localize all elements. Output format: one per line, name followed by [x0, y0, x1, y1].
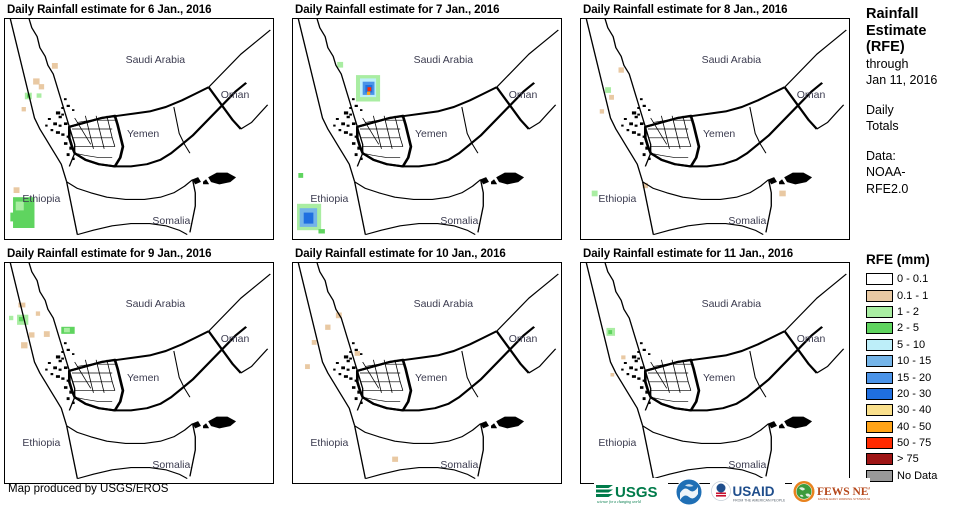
oman-yemen-border [209, 331, 241, 373]
highland-relief-speckle [637, 377, 640, 379]
agency-logo-strip: USGS science for a changing world USAID … [594, 477, 870, 507]
legend-label: 0 - 0.1 [897, 273, 928, 285]
highland-relief-speckle [637, 358, 640, 360]
rainfall-cell [610, 373, 614, 377]
highland-relief-speckle [72, 402, 75, 404]
rainfall-cell [355, 351, 360, 356]
highland-relief-speckle [61, 358, 64, 360]
highland-relief-speckle [64, 386, 67, 389]
highland-relief-speckle [640, 142, 643, 145]
legend-swatch [866, 273, 893, 285]
small-island-2 [779, 180, 784, 184]
highland-relief-speckle [357, 391, 360, 394]
small-island-2 [491, 424, 496, 428]
highland-relief-speckle [67, 380, 70, 382]
oman-coast-south [241, 105, 268, 129]
highland-relief-speckle [53, 122, 57, 125]
rainfall-cell [337, 62, 343, 68]
highland-relief-speckle [341, 366, 345, 369]
panel-title: Daily Rainfall estimate for 7 Jan., 2016 [292, 2, 562, 18]
highland-relief-speckle [61, 351, 64, 353]
rainfall-cell [367, 92, 370, 95]
highland-relief-speckle [355, 397, 358, 400]
highland-relief-speckle [336, 362, 339, 364]
map-panel: Daily Rainfall estimate for 9 Jan., 2016… [4, 246, 274, 484]
ethiopia-somalia-border [67, 426, 78, 479]
rainfall-cell [9, 316, 13, 320]
rainfall-cell [19, 317, 23, 321]
rainfall-cell [592, 191, 598, 197]
highland-relief-speckle [621, 369, 623, 371]
rainfall-cell [39, 84, 44, 89]
highland-relief-speckle [339, 373, 342, 375]
basemap-svg [293, 19, 561, 239]
rainfall-raster [305, 313, 398, 462]
map-frame[interactable]: Saudi ArabiaOmanYemenEthiopiaSomalia [4, 18, 274, 240]
rainfall-cell [304, 213, 314, 224]
highland-relief-speckle [347, 369, 350, 371]
oman-yemen-border [497, 87, 529, 129]
somalia-east-coast [190, 424, 195, 477]
somalia-interior-border [77, 224, 187, 235]
rfe-legend: RFE (mm) 0 - 0.10.1 - 11 - 22 - 55 - 101… [866, 252, 967, 484]
highland-relief-speckle [45, 369, 47, 371]
highland-relief-speckle [336, 118, 339, 120]
yemen-admin-boundary-2 [96, 116, 104, 149]
yemen-admin-boundary-2 [384, 360, 392, 393]
somalia-north-coast [643, 180, 769, 200]
rainfall-cell [18, 303, 25, 308]
highland-relief-speckle [349, 358, 352, 360]
highland-relief-speckle [645, 391, 648, 394]
somalia-interior-border [77, 468, 187, 479]
oman-interior-border [462, 107, 478, 153]
highland-relief-speckle [349, 351, 352, 353]
legend-entry: 0 - 0.1 [866, 271, 967, 287]
legend-swatch [866, 404, 893, 416]
highland-relief-speckle [45, 125, 47, 127]
somalia-interior-border [653, 224, 763, 235]
noaa-logo [675, 478, 703, 506]
highland-relief-speckle [621, 125, 623, 127]
yemen-national-outline [357, 360, 411, 411]
map-credit: Map produced by USGS/EROS [8, 483, 168, 495]
oman-yemen-border [785, 87, 817, 129]
map-panel: Daily Rainfall estimate for 6 Jan., 2016… [4, 2, 274, 240]
highland-relief-speckle [632, 111, 636, 114]
highland-relief-speckle [648, 402, 651, 404]
somalia-north-coast [643, 424, 769, 444]
oman-coast-south [817, 349, 844, 373]
highland-relief-speckle [344, 375, 348, 378]
legend-label: 2 - 5 [897, 322, 919, 334]
highland-relief-speckle [355, 380, 358, 382]
rainfall-cell [605, 87, 611, 93]
highland-relief-speckle [643, 397, 646, 400]
rfe-map-page: Daily Rainfall estimate for 6 Jan., 2016… [0, 0, 967, 511]
rfe-data-source-line3: RFE2.0 [866, 181, 967, 198]
highland-relief-speckle [53, 366, 57, 369]
highland-relief-speckle [64, 122, 67, 125]
highland-relief-speckle [59, 360, 62, 362]
basemap-svg [581, 19, 849, 239]
highland-relief-speckle [357, 147, 360, 150]
highland-relief-speckle [640, 342, 643, 344]
rfe-title-line1: Rainfall [866, 6, 967, 23]
highland-relief-speckle [640, 98, 643, 100]
legend-entry: 20 - 30 [866, 386, 967, 402]
yemen-admin-boundary-2 [96, 360, 104, 393]
yemen-south-coast [363, 327, 535, 411]
highland-relief-speckle [349, 133, 352, 135]
highland-relief-speckle [632, 355, 636, 358]
oman-interior-border [750, 351, 766, 397]
highland-relief-speckle [59, 125, 62, 127]
highland-relief-speckle [344, 131, 348, 134]
rfe-aggregation-line2: Totals [866, 118, 967, 135]
arabia-west-coast [317, 263, 363, 410]
highland-relief-speckle [643, 349, 646, 351]
highland-relief-speckle [56, 131, 60, 134]
legend-label: 40 - 50 [897, 421, 931, 433]
highland-relief-speckle [56, 111, 60, 114]
highland-relief-speckle [333, 369, 335, 371]
highland-relief-speckle [627, 373, 630, 375]
somalia-east-coast [478, 424, 483, 477]
legend-title: RFE (mm) [866, 252, 967, 267]
highland-relief-speckle [352, 386, 355, 389]
oman-yemen-border [785, 331, 817, 373]
highland-relief-speckle [355, 105, 358, 107]
highland-relief-speckle [640, 386, 643, 389]
small-island-2 [779, 424, 784, 428]
highland-relief-speckle [339, 129, 342, 131]
highland-relief-speckle [61, 377, 64, 379]
highland-relief-speckle [629, 366, 633, 369]
somalia-east-coast [766, 424, 771, 477]
somalia-interior-border [365, 468, 475, 479]
somalia-north-coast [67, 424, 193, 444]
highland-relief-speckle [360, 158, 363, 160]
highland-relief-speckle [347, 125, 350, 127]
highland-relief-speckle [72, 353, 74, 355]
highland-relief-speckle [349, 114, 352, 116]
oman-coast-north [497, 274, 559, 331]
rainfall-cell [37, 93, 42, 97]
legend-entry: > 75 [866, 451, 967, 467]
rfe-info-block: Rainfall Estimate (RFE) through Jan 11, … [866, 6, 967, 197]
highland-relief-speckle [51, 373, 54, 375]
svg-text:science for a changing world: science for a changing world [597, 500, 641, 504]
highland-relief-speckle [632, 375, 636, 378]
panel-title: Daily Rainfall estimate for 9 Jan., 2016 [4, 246, 274, 262]
highland-relief-speckle [72, 109, 74, 111]
highland-relief-speckle [56, 375, 60, 378]
legend-label: 10 - 15 [897, 355, 931, 367]
rfe-title-line3: (RFE) [866, 39, 967, 56]
legend-swatch [866, 372, 893, 384]
legend-entry: No Data [866, 468, 967, 484]
rainfall-cell [33, 78, 39, 84]
highland-relief-speckle [64, 342, 67, 344]
highland-relief-speckle [51, 129, 54, 131]
highland-relief-speckle [643, 380, 646, 382]
legend-entry: 30 - 40 [866, 402, 967, 418]
highland-relief-speckle [69, 147, 72, 150]
highland-relief-speckle [645, 147, 648, 150]
yemen-national-outline [645, 116, 699, 167]
rainfall-raster [9, 303, 75, 349]
rainfall-cell [22, 107, 26, 111]
small-island-2 [491, 180, 496, 184]
rainfall-raster [10, 63, 57, 228]
highland-relief-speckle [360, 109, 362, 111]
highland-relief-speckle [347, 360, 350, 362]
highland-relief-speckle [637, 107, 640, 109]
highland-relief-speckle [67, 105, 70, 107]
oman-interior-border [750, 107, 766, 153]
basemap-svg [5, 263, 273, 483]
yemen-admin-boundary-2 [672, 116, 680, 149]
highland-relief-speckle [632, 131, 636, 134]
legend-label: 5 - 10 [897, 339, 925, 351]
yemen-south-coast [75, 83, 247, 167]
yemen-admin-boundary-2 [672, 360, 680, 393]
rainfall-raster [592, 67, 786, 196]
legend-entry: 1 - 2 [866, 304, 967, 320]
highland-relief-speckle [67, 153, 70, 156]
oman-yemen-border [497, 331, 529, 373]
legend-swatch [866, 453, 893, 465]
legend-entry: 10 - 15 [866, 353, 967, 369]
legend-swatch [866, 437, 893, 449]
map-panel: Daily Rainfall estimate for 8 Jan., 2016… [580, 2, 850, 240]
legend-swatch [866, 290, 893, 302]
yemen-national-outline [357, 116, 411, 167]
rfe-through-label: through [866, 56, 967, 73]
highland-relief-speckle [648, 109, 650, 111]
legend-swatch [866, 355, 893, 367]
socotra-island [209, 417, 236, 428]
oman-coast-north [209, 274, 271, 331]
highland-relief-speckle [360, 402, 363, 404]
arabia-west-coast [29, 19, 75, 166]
rainfall-cell [298, 173, 303, 178]
yemen-south-coast [651, 327, 823, 411]
arabia-west-coast [605, 19, 651, 166]
highland-relief-speckle [61, 107, 64, 109]
highland-relief-speckle [341, 122, 345, 125]
rainfall-cell [619, 67, 624, 72]
yemen-national-outline [69, 116, 123, 167]
rainfall-cell [10, 213, 16, 222]
oman-coast-south [241, 349, 268, 373]
map-frame[interactable]: Saudi ArabiaOmanYemenEthiopiaSomalia [4, 262, 274, 484]
oman-coast-north [497, 30, 559, 87]
socotra-island [497, 417, 524, 428]
legend-label: 1 - 2 [897, 306, 919, 318]
oman-coast-south [529, 349, 556, 373]
basemap-svg [293, 263, 561, 483]
svg-text:FAMINE EARLY WARNING SYSTEMS N: FAMINE EARLY WARNING SYSTEMS NETWORK [818, 497, 870, 501]
oman-coast-north [209, 30, 271, 87]
legend-label: > 75 [897, 453, 919, 465]
oman-coast-south [817, 105, 844, 129]
basemap-svg [581, 263, 849, 483]
ethiopia-somalia-border [643, 426, 654, 479]
legend-swatch [866, 388, 893, 400]
usaid-logo: USAID FROM THE AMERICAN PEOPLE [710, 478, 785, 506]
highland-relief-speckle [61, 133, 64, 135]
ethiopia-somalia-border [355, 182, 366, 235]
rfe-aggregation-line1: Daily [866, 102, 967, 119]
socotra-island [209, 173, 236, 184]
highland-relief-speckle [635, 369, 638, 371]
somalia-north-coast [355, 424, 481, 444]
rainfall-cell [600, 109, 604, 113]
highland-relief-speckle [360, 353, 362, 355]
rainfall-cell [392, 457, 398, 462]
oman-interior-border [174, 351, 190, 397]
small-island-2 [203, 424, 208, 428]
rainfall-cell [779, 191, 785, 197]
highland-relief-speckle [64, 142, 67, 145]
somalia-east-coast [190, 180, 195, 233]
legend-swatch [866, 339, 893, 351]
yemen-south-coast [651, 83, 823, 167]
highland-relief-speckle [61, 114, 64, 116]
highland-relief-speckle [67, 397, 70, 400]
highland-relief-speckle [352, 142, 355, 145]
highland-relief-speckle [56, 355, 60, 358]
somalia-east-coast [766, 180, 771, 233]
highland-relief-speckle [635, 125, 638, 127]
somalia-north-coast [355, 180, 481, 200]
rainfall-cell [609, 95, 614, 100]
legend-label: 0.1 - 1 [897, 290, 928, 302]
yemen-south-coast [363, 83, 535, 167]
legend-entry: 5 - 10 [866, 337, 967, 353]
panel-title: Daily Rainfall estimate for 11 Jan., 201… [580, 246, 850, 262]
somalia-north-coast [67, 180, 193, 200]
highland-relief-speckle [355, 349, 358, 351]
legend-rows: 0 - 0.10.1 - 11 - 22 - 55 - 1010 - 1515 … [866, 271, 967, 484]
highland-relief-speckle [352, 122, 355, 125]
highland-relief-speckle [347, 116, 350, 118]
map-frame[interactable]: Saudi ArabiaOmanYemenEthiopiaSomalia [580, 18, 850, 240]
rainfall-cell [305, 364, 310, 369]
oman-interior-border [174, 107, 190, 153]
rfe-through-date: Jan 11, 2016 [866, 72, 967, 89]
rainfall-cell [64, 328, 70, 332]
legend-label: 15 - 20 [897, 372, 931, 384]
arabia-west-coast [605, 263, 651, 410]
yemen-south-coast [75, 327, 247, 411]
basemap-svg [5, 19, 273, 239]
legend-entry: 15 - 20 [866, 369, 967, 385]
highland-relief-speckle [344, 111, 348, 114]
highland-relief-speckle [48, 118, 51, 120]
yemen-admin-boundary-2 [384, 116, 392, 149]
svg-text:USAID: USAID [733, 484, 775, 499]
legend-label: 20 - 30 [897, 388, 931, 400]
oman-interior-border [462, 351, 478, 397]
small-island-2 [203, 180, 208, 184]
legend-swatch [866, 470, 893, 482]
highland-relief-speckle [69, 391, 72, 394]
panel-title: Daily Rainfall estimate for 6 Jan., 2016 [4, 2, 274, 18]
rainfall-cell [29, 332, 34, 337]
fews-net-logo: FEWS NET FAMINE EARLY WARNING SYSTEMS NE… [792, 478, 870, 506]
svg-text:USGS: USGS [615, 484, 658, 501]
highland-relief-speckle [637, 133, 640, 135]
highland-relief-speckle [648, 353, 650, 355]
rfe-data-source-label: Data: [866, 148, 967, 165]
rainfall-cell [621, 355, 625, 359]
legend-label: 30 - 40 [897, 404, 931, 416]
rainfall-cell [368, 87, 372, 91]
legend-label: No Data [897, 470, 937, 482]
legend-entry: 50 - 75 [866, 435, 967, 451]
legend-swatch [866, 306, 893, 318]
map-frame[interactable]: Saudi ArabiaOmanYemenEthiopiaSomalia [580, 262, 850, 484]
map-panel: Daily Rainfall estimate for 11 Jan., 201… [580, 246, 850, 484]
legend-entry: 0.1 - 1 [866, 287, 967, 303]
highland-relief-speckle [629, 122, 633, 125]
somalia-east-coast [478, 180, 483, 233]
ethiopia-somalia-border [643, 182, 654, 235]
highland-relief-speckle [648, 158, 651, 160]
yemen-national-outline [645, 360, 699, 411]
rainfall-cell [312, 340, 317, 345]
map-frame[interactable]: Saudi ArabiaOmanYemenEthiopiaSomalia [292, 262, 562, 484]
svg-text:FEWS NET: FEWS NET [817, 486, 870, 498]
usgs-logo: USGS science for a changing world [594, 478, 668, 506]
rainfall-cell [44, 331, 50, 337]
legend-entry: 2 - 5 [866, 320, 967, 336]
ethiopia-somalia-border [355, 426, 366, 479]
rainfall-cell [608, 330, 612, 334]
rainfall-cell [52, 63, 58, 69]
highland-relief-speckle [627, 129, 630, 131]
legend-swatch [866, 322, 893, 334]
highland-relief-speckle [624, 362, 627, 364]
highland-relief-speckle [635, 360, 638, 362]
highland-relief-speckle [64, 366, 67, 369]
highland-relief-speckle [643, 136, 646, 138]
legend-label: 50 - 75 [897, 437, 931, 449]
highland-relief-speckle [355, 153, 358, 156]
rainfall-cell [14, 187, 20, 193]
map-panel: Daily Rainfall estimate for 7 Jan., 2016… [292, 2, 562, 240]
highland-relief-speckle [67, 349, 70, 351]
arabia-west-coast [29, 263, 75, 410]
highland-relief-speckle [355, 136, 358, 138]
highland-relief-speckle [643, 105, 646, 107]
highland-relief-speckle [349, 377, 352, 379]
rainfall-cell [325, 325, 330, 330]
socotra-island [785, 417, 812, 428]
highland-relief-speckle [48, 362, 51, 364]
highland-relief-speckle [59, 116, 62, 118]
legend-swatch [866, 421, 893, 433]
oman-coast-south [529, 105, 556, 129]
panel-title: Daily Rainfall estimate for 8 Jan., 2016 [580, 2, 850, 18]
highland-relief-speckle [637, 351, 640, 353]
svg-text:FROM THE AMERICAN PEOPLE: FROM THE AMERICAN PEOPLE [733, 499, 785, 503]
map-frame[interactable]: Saudi ArabiaOmanYemenEthiopiaSomalia [292, 18, 562, 240]
highland-relief-speckle [352, 98, 355, 100]
